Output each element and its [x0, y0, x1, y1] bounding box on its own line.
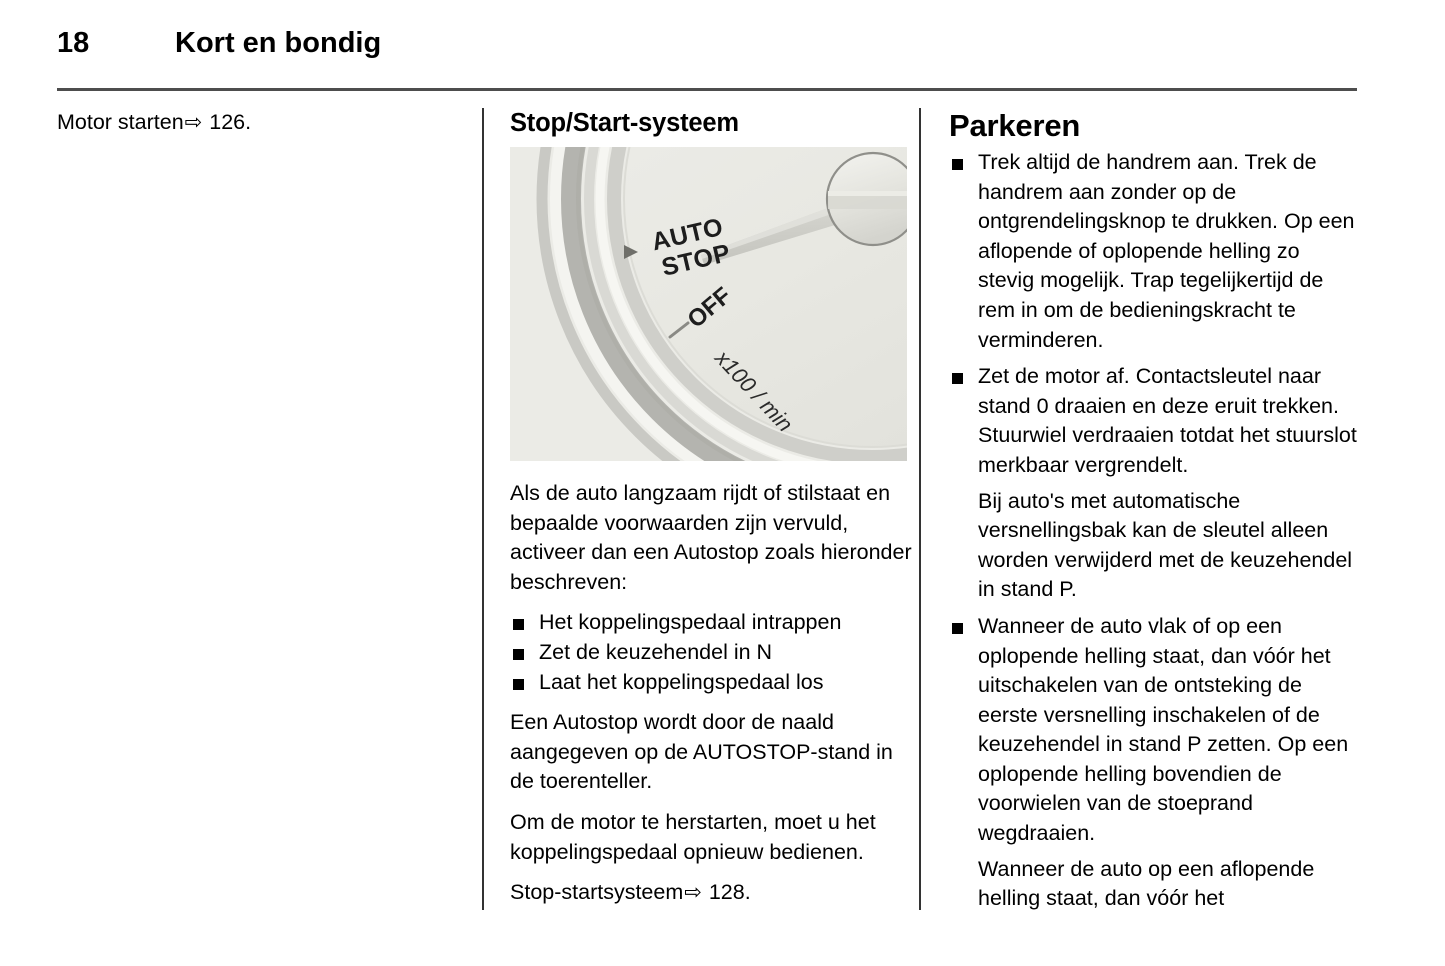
page-header: 18 Kort en bondig — [57, 26, 1357, 70]
square-bullet-icon — [952, 623, 963, 634]
page-reference-arrow-icon: ⇨ — [184, 111, 204, 134]
list-item-subparagraph: Bij auto's met automatische versnellings… — [978, 487, 1357, 605]
square-bullet-icon — [952, 373, 963, 384]
column-middle: Stop/Start-systeem — [482, 108, 919, 910]
cross-reference-page: 128. — [709, 880, 751, 904]
list-autostop-steps: Het koppelingspedaal intrappen Zet de ke… — [510, 608, 919, 697]
gauge-illustration: AUTO STOP OFF x100 / min — [510, 147, 907, 461]
cross-reference-motor-starten: Motor starten⇨ 126. — [57, 108, 458, 138]
page-reference-arrow-icon: ⇨ — [683, 881, 703, 904]
column-right: Parkeren Trek altijd de handrem aan. Tre… — [919, 108, 1357, 910]
list-item: Zet de motor af. Contactsleutel naar sta… — [949, 362, 1357, 605]
square-bullet-icon — [513, 649, 524, 660]
list-item: Wanneer de auto vlak of op een oplopende… — [949, 612, 1357, 914]
paragraph-restart-engine: Om de motor te herstarten, moet u het ko… — [510, 808, 919, 867]
list-item-label: Trek altijd de handrem aan. Trek de hand… — [978, 150, 1355, 352]
list-item-subparagraph: Wanneer de auto op een aflopende helling… — [978, 855, 1357, 914]
header-divider-rule — [57, 88, 1357, 91]
content-columns: Motor starten⇨ 126. Stop/Start-systeem — [57, 108, 1357, 910]
square-bullet-icon — [513, 679, 524, 690]
list-item: Laat het koppelingspedaal los — [510, 668, 919, 698]
square-bullet-icon — [513, 619, 524, 630]
heading-parkeren: Parkeren — [949, 108, 1357, 144]
page-title: Kort en bondig — [175, 26, 381, 60]
list-item: Trek altijd de handrem aan. Trek de hand… — [949, 148, 1357, 355]
paragraph-needle-indication: Een Autostop wordt door de naald aangege… — [510, 708, 919, 797]
paragraph-autostop-intro: Als de auto langzaam rijdt of stilstaat … — [510, 479, 919, 597]
list-item-label: Het koppelingspedaal intrappen — [539, 610, 841, 634]
list-parkeren-instructions: Trek altijd de handrem aan. Trek de hand… — [949, 148, 1357, 914]
list-item-label: Wanneer de auto vlak of op een oplopende… — [978, 614, 1348, 845]
rev-counter-autostop-gauge-figure: AUTO STOP OFF x100 / min — [510, 147, 907, 461]
list-item-label: Laat het koppelingspedaal los — [539, 670, 824, 694]
cross-reference-label: Motor starten — [57, 110, 184, 134]
cross-reference-page: 126. — [209, 110, 251, 134]
list-item-label: Zet de motor af. Contactsleutel naar sta… — [978, 364, 1357, 477]
column-left: Motor starten⇨ 126. — [57, 108, 482, 910]
heading-stop-start-systeem: Stop/Start-systeem — [510, 108, 919, 138]
cross-reference-stop-startsysteem: Stop-startsysteem⇨ 128. — [510, 878, 919, 908]
cross-reference-label: Stop-startsysteem — [510, 880, 683, 904]
square-bullet-icon — [952, 159, 963, 170]
list-item: Zet de keuzehendel in N — [510, 638, 919, 668]
page-number: 18 — [57, 26, 175, 60]
list-item: Het koppelingspedaal intrappen — [510, 608, 919, 638]
list-item-label: Zet de keuzehendel in N — [539, 640, 772, 664]
